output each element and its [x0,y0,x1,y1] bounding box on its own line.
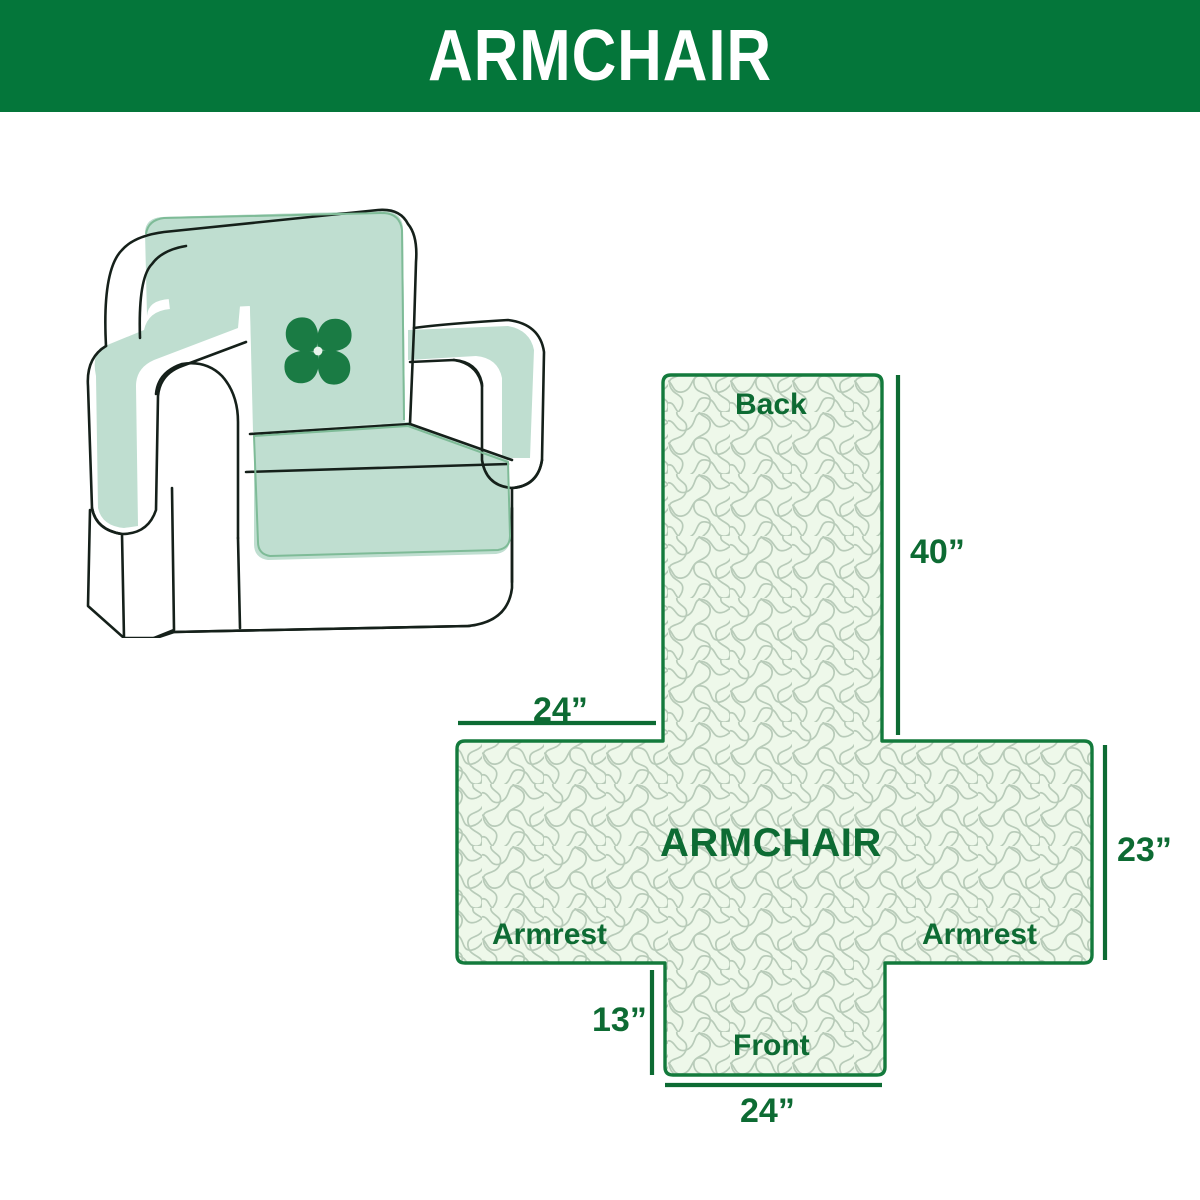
panel-label-armrest-right: Armrest [922,920,1037,950]
panel-label-back: Back [735,390,807,420]
panel-label-armrest-left: Armrest [492,920,607,950]
product-diagram-page: ARMCHAIR [0,0,1200,1200]
header-banner: ARMCHAIR [0,0,1200,112]
page-title: ARMCHAIR [428,20,772,92]
dimension-label-24-top: 24” [533,693,588,727]
dimension-label-40: 40” [910,535,965,569]
panel-label-front: Front [733,1031,810,1061]
cover-left-arm [95,306,240,528]
dimension-label-23: 23” [1117,833,1172,867]
panel-label-armchair: ARMCHAIR [660,823,882,863]
slipcover-layout-diagram [420,350,1200,1140]
dimension-label-13: 13” [592,1003,647,1037]
dimension-label-24-bottom: 24” [740,1094,795,1128]
